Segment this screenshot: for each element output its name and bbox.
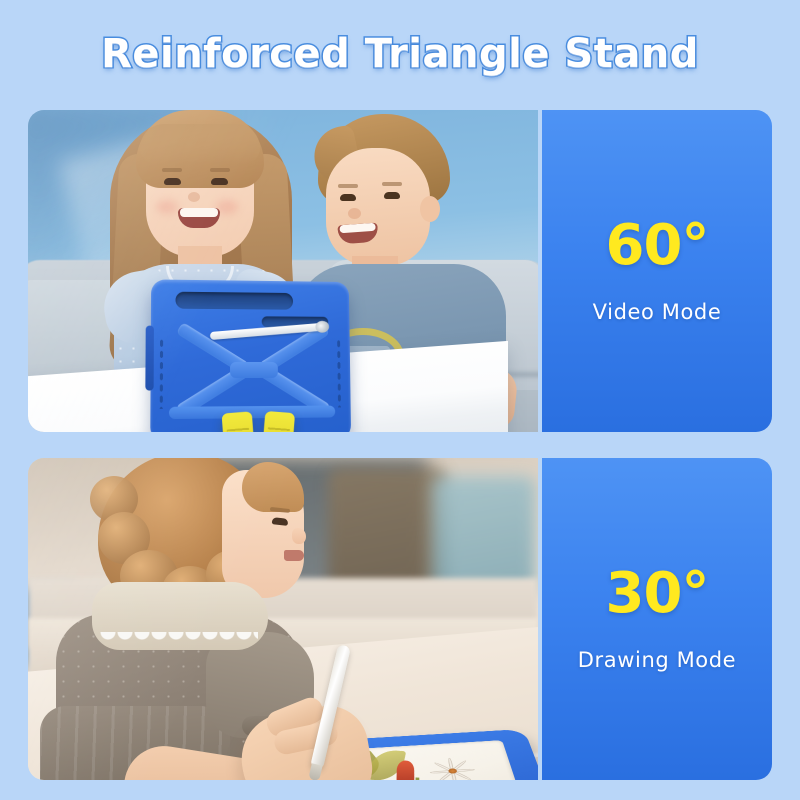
case-vent-dots-right — [336, 338, 342, 407]
info-panel-video-mode: 60° Video Mode — [542, 110, 772, 432]
boy-eye-left — [340, 194, 356, 201]
feature-row-drawing-mode: 30° Drawing Mode — [28, 458, 772, 780]
mode-label-video: Video Mode — [593, 300, 722, 324]
info-panel-drawing-mode: 30° Drawing Mode — [542, 458, 772, 780]
photo-kids-watching-tablet-on-stand — [28, 110, 538, 432]
boy-eyebrow-left — [338, 184, 358, 188]
girl-eye-right — [211, 178, 228, 185]
header: Reinforced Triangle Stand — [0, 0, 800, 108]
mode-label-drawing: Drawing Mode — [578, 648, 736, 672]
angle-value-video: 60° — [606, 218, 709, 274]
feature-row-video-mode: 60° Video Mode — [28, 110, 772, 432]
boy-eyebrow-right — [382, 182, 402, 186]
girl-fringe — [140, 124, 260, 164]
girl2-nose — [292, 528, 306, 544]
girl-nose — [188, 192, 200, 202]
page-title: Reinforced Triangle Stand — [101, 31, 699, 77]
case-center-brace — [230, 362, 278, 378]
case-side-edge — [145, 326, 154, 391]
girl2-forehead-hair — [242, 462, 304, 512]
boy-face — [326, 148, 430, 266]
girl-eyebrow-right — [210, 168, 230, 172]
girl2-lips — [284, 550, 304, 561]
boy-nose — [348, 208, 361, 219]
case-vent-dots-left — [159, 338, 164, 409]
girl-eye-left — [164, 178, 181, 185]
angle-value-drawing: 30° — [606, 566, 709, 622]
girl-smile — [178, 208, 220, 228]
photo-girl-drawing-on-tablet — [28, 458, 538, 780]
boy-ear — [420, 196, 440, 222]
girl-cheek-left — [156, 200, 178, 214]
boy-eye-right — [384, 192, 400, 199]
kickstand-leg-right — [260, 411, 296, 432]
tablet-case-with-stand — [150, 279, 351, 432]
girl-eyebrow-left — [162, 168, 182, 172]
girl2-lace-collar — [92, 582, 268, 650]
case-carry-handle — [175, 292, 293, 310]
